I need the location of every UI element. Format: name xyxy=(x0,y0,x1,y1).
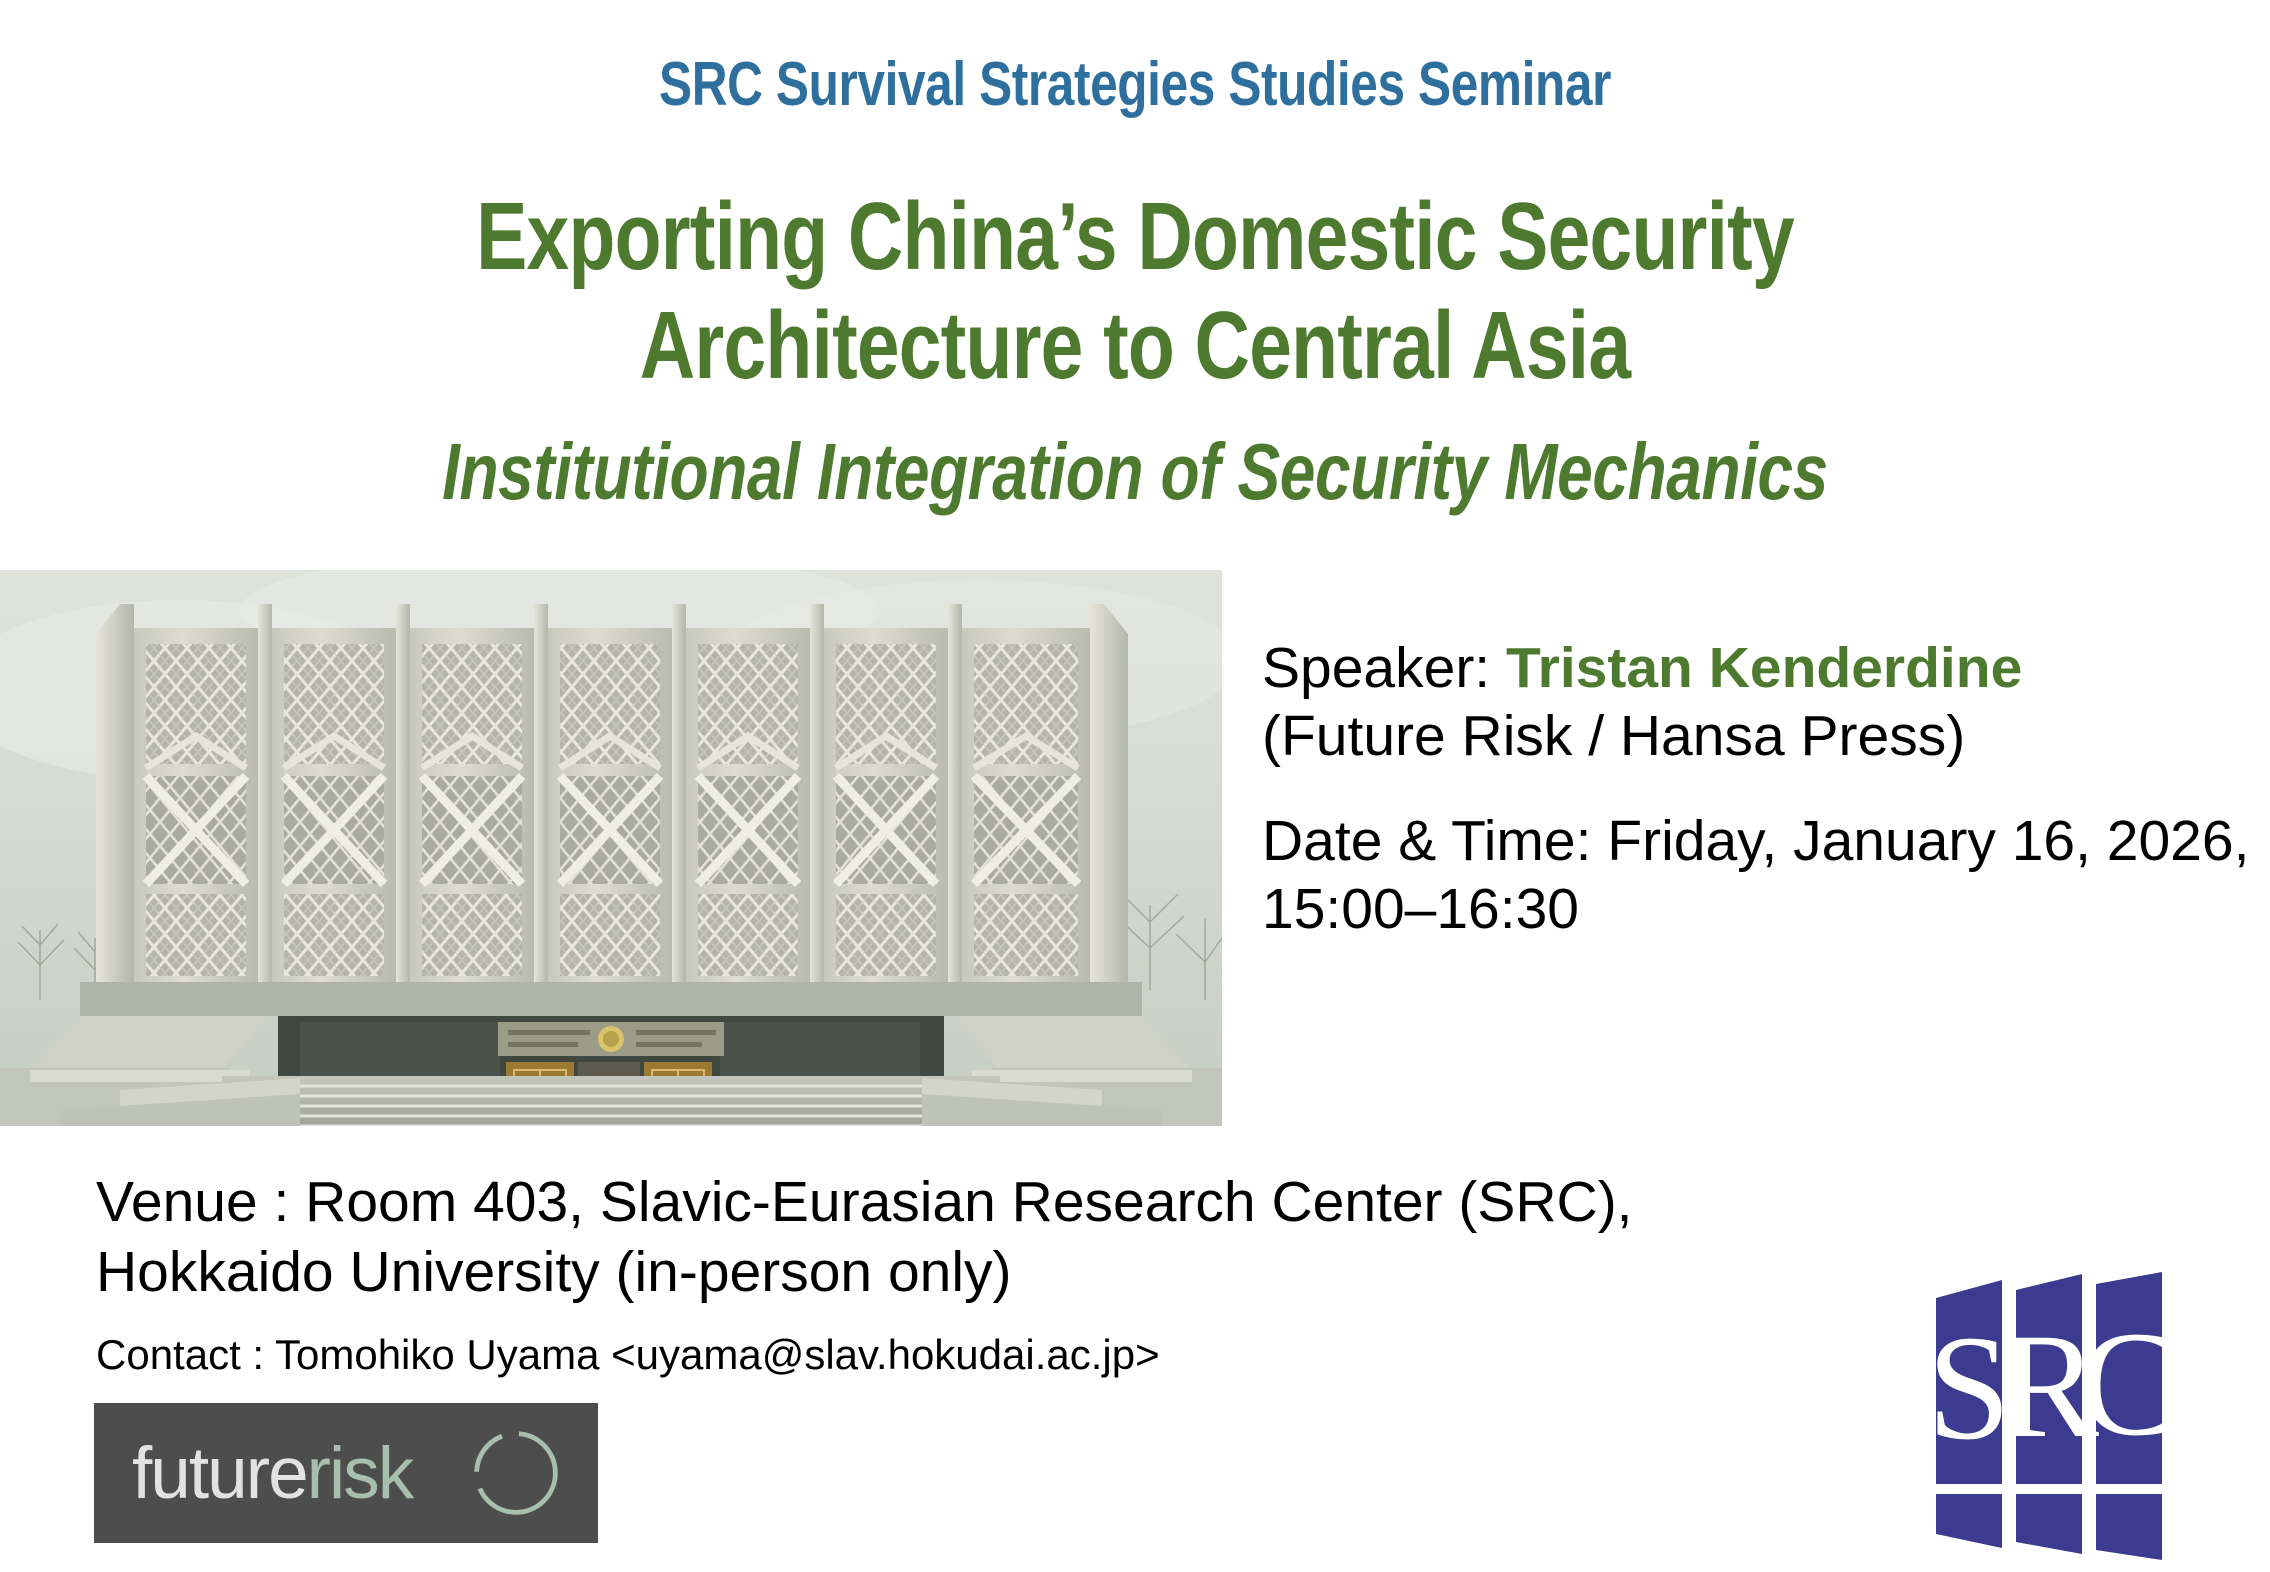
src-logo-graphic: S R C xyxy=(1932,1272,2172,1560)
speaker-name: Tristan Kenderdine xyxy=(1506,636,2022,700)
seminar-details: Speaker: Tristan Kenderdine (Future Risk… xyxy=(1262,634,2262,944)
title-line-1: Exporting China’s Domestic Security xyxy=(227,182,2043,291)
datetime-line: Date & Time: Friday, January 16, 2026, 1… xyxy=(1262,807,2262,944)
speaker-affiliation: (Future Risk / Hansa Press) xyxy=(1262,704,1965,768)
title-line-2: Architecture to Central Asia xyxy=(227,291,2043,400)
ring-icon xyxy=(468,1425,564,1521)
seminar-poster: SRC Survival Strategies Studies Seminar … xyxy=(0,0,2270,1572)
speaker-label: Speaker: xyxy=(1262,636,1506,700)
page-subtitle: Institutional Integration of Security Me… xyxy=(227,428,2043,516)
futurerisk-wordmark: futurerisk xyxy=(132,1437,412,1510)
futurerisk-word-future: future xyxy=(132,1433,307,1514)
contact-line: Contact : Tomohiko Uyama <uyama@slav.hok… xyxy=(96,1330,1696,1380)
speaker-line: Speaker: Tristan Kenderdine (Future Risk… xyxy=(1262,634,2262,771)
futurerisk-logo: futurerisk xyxy=(94,1403,598,1543)
futurerisk-word-risk: risk xyxy=(307,1433,413,1514)
src-logo: S R C xyxy=(1932,1272,2172,1560)
series-heading: SRC Survival Strategies Studies Seminar xyxy=(227,52,2043,117)
building-photo xyxy=(0,570,1222,1126)
src-letter-c: C xyxy=(2079,1301,2172,1467)
page-title: Exporting China’s Domestic Security Arch… xyxy=(227,182,2043,401)
building-photo-graphic xyxy=(0,570,1222,1126)
venue-line: Venue : Room 403, Slavic-Eurasian Resear… xyxy=(96,1168,1796,1307)
